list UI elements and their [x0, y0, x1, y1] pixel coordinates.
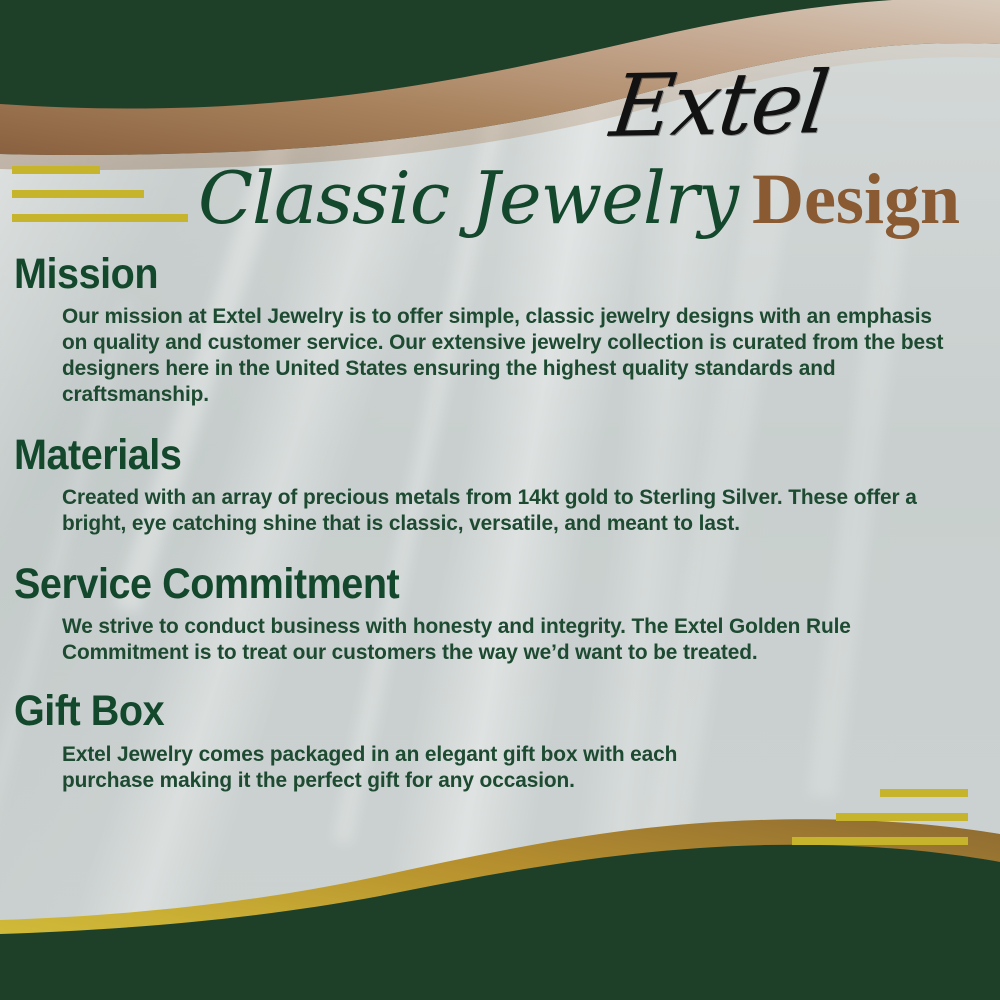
section-service-commitment: Service Commitment We strive to conduct … [0, 562, 1000, 665]
section-mission: Mission Our mission at Extel Jewelry is … [0, 252, 1000, 407]
gold-rule-bottom-2 [836, 813, 968, 821]
brand-script-logo: Extel [606, 60, 831, 150]
section-body-mission: Our mission at Extel Jewelry is to offer… [62, 303, 947, 407]
gold-rule-bottom-3 [792, 837, 968, 845]
bottom-wave-decoration [0, 800, 1000, 1000]
section-heading-materials: Materials [14, 433, 921, 478]
section-heading-mission: Mission [14, 252, 921, 297]
page-title: Classic JewelryDesign [0, 156, 960, 241]
section-materials: Materials Created with an array of preci… [0, 433, 1000, 536]
title-primary: Classic Jewelry [198, 156, 738, 240]
section-heading-gift-box: Gift Box [14, 689, 921, 734]
title-secondary: Design [752, 159, 960, 239]
poster-canvas: Extel Classic JewelryDesign Mission Our … [0, 0, 1000, 1000]
sections-container: Mission Our mission at Extel Jewelry is … [0, 252, 1000, 797]
section-gift-box: Gift Box Extel Jewelry comes packaged in… [0, 689, 1000, 792]
top-wave-decoration [0, 0, 1000, 180]
section-heading-service-commitment: Service Commitment [14, 562, 921, 607]
section-body-gift-box: Extel Jewelry comes packaged in an elega… [62, 741, 760, 793]
section-body-materials: Created with an array of precious metals… [62, 484, 947, 536]
section-body-service-commitment: We strive to conduct business with hones… [62, 613, 947, 665]
